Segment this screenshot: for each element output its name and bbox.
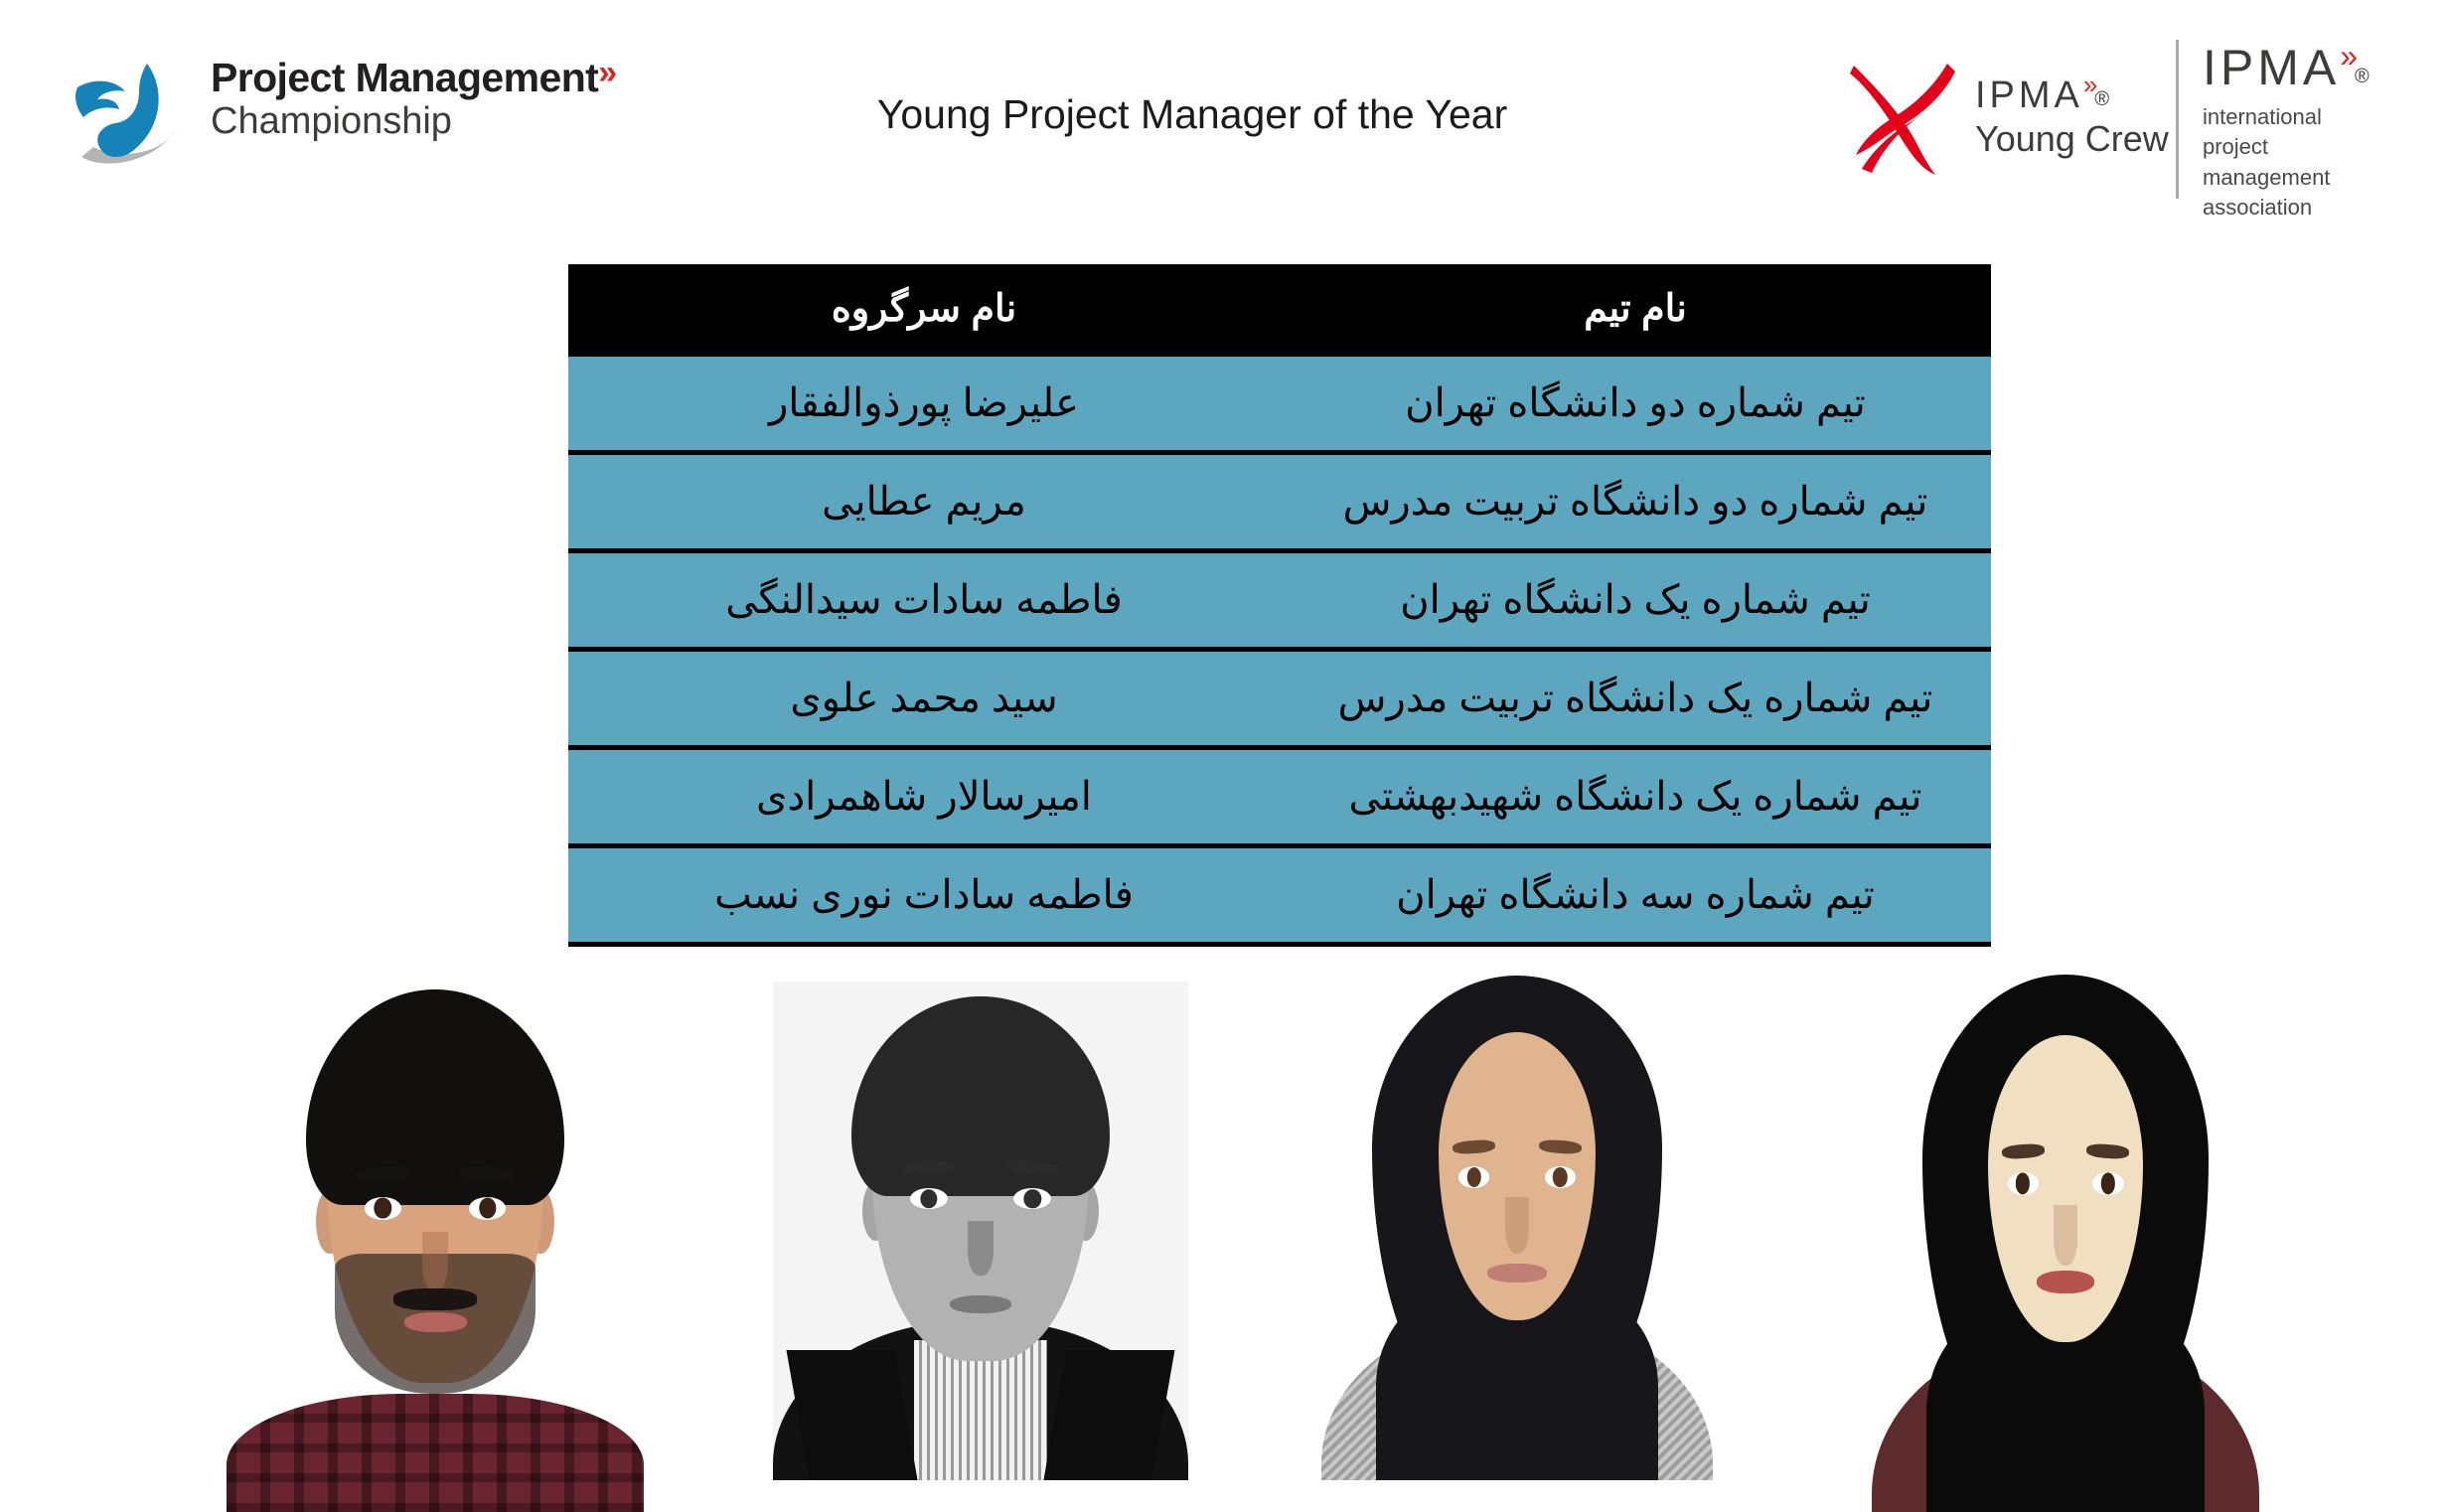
participant-photo: [1321, 966, 1713, 1480]
young-crew-registered-icon: ®: [2094, 88, 2109, 110]
cell-leader-name: مریم عطایی: [568, 453, 1280, 551]
table-head: نام تیم نام سرگروه: [568, 264, 1991, 355]
column-header-team-name: نام تیم: [1280, 264, 1991, 355]
table-body: تیم شماره دو دانشگاه تهران علیرضا پورذوا…: [568, 355, 1991, 945]
young-crew-wordmark: IPMA»®: [1975, 72, 2169, 114]
cell-leader-name: علیرضا پورذوالفقار: [568, 355, 1280, 453]
table-header-row: نام تیم نام سرگروه: [568, 264, 1991, 355]
pmc-logo-line1: Project Management»: [211, 56, 648, 99]
ipma-wordmark-text: IPMA: [2203, 40, 2340, 95]
pmc-logo-line1-text: Project Management: [211, 55, 598, 100]
project-management-championship-logo: Project Management» Championship: [60, 52, 656, 171]
cell-leader-name: فاطمه سادات سیدالنگی: [568, 551, 1280, 650]
cell-team-name: تیم شماره دو دانشگاه تربیت مدرس: [1280, 453, 1991, 551]
young-crew-x-icon: [1848, 58, 1977, 177]
ipma-international-logo: IPMA»® international project management …: [2176, 40, 2424, 199]
teams-table: نام تیم نام سرگروه تیم شماره دو دانشگاه …: [568, 264, 1991, 947]
ipma-chevron-icon: »: [2340, 38, 2355, 74]
ipma-wordmark: IPMA»®: [2203, 40, 2424, 92]
cell-leader-name: امیرسالار شاهمرادی: [568, 748, 1280, 846]
ipma-tagline: international project management associa…: [2203, 102, 2424, 223]
cell-leader-name: سید محمد علوی: [568, 650, 1280, 748]
participant-photo: [227, 974, 644, 1512]
ipma-young-crew-logo: IPMA»® Young Crew: [1848, 48, 2186, 182]
page-title: Young Project Manager of the Year: [815, 91, 1570, 138]
participant-photo: [1872, 964, 2259, 1512]
young-crew-wordmark-text: IPMA: [1975, 75, 2083, 116]
table-row: تیم شماره دو دانشگاه تهران علیرضا پورذوا…: [568, 355, 1991, 453]
cell-team-name: تیم شماره یک دانشگاه تربیت مدرس: [1280, 650, 1991, 748]
cell-leader-name: فاطمه سادات نوری نسب: [568, 846, 1280, 945]
pmc-chevron-icon: »: [598, 54, 613, 91]
pmc-swoosh-icon: [60, 52, 189, 171]
table-row: تیم شماره یک دانشگاه شهیدبهشتی امیرسالار…: [568, 748, 1991, 846]
cell-team-name: تیم شماره یک دانشگاه تهران: [1280, 551, 1991, 650]
cell-team-name: تیم شماره یک دانشگاه شهیدبهشتی: [1280, 748, 1991, 846]
table-row: تیم شماره یک دانشگاه تربیت مدرس سید محمد…: [568, 650, 1991, 748]
column-header-leader-name: نام سرگروه: [568, 264, 1280, 355]
ipma-registered-icon: ®: [2355, 66, 2370, 87]
cell-team-name: تیم شماره دو دانشگاه تهران: [1280, 355, 1991, 453]
table-row: تیم شماره دو دانشگاه تربیت مدرس مریم عطا…: [568, 453, 1991, 551]
cell-team-name: تیم شماره سه دانشگاه تهران: [1280, 846, 1991, 945]
ipma-tagline-line1: international: [2203, 102, 2424, 132]
ipma-tagline-line3: management: [2203, 163, 2424, 193]
pmc-logo-line2: Championship: [211, 101, 648, 143]
table-row: تیم شماره یک دانشگاه تهران فاطمه سادات س…: [568, 551, 1991, 650]
ipma-tagline-line4: association: [2203, 193, 2424, 223]
participant-photo: [773, 982, 1188, 1480]
slide-header: Project Management» Championship Young P…: [0, 0, 2448, 238]
young-crew-chevron-icon: »: [2083, 70, 2094, 99]
young-crew-subtitle: Young Crew: [1975, 118, 2169, 159]
ipma-tagline-line2: project: [2203, 132, 2424, 162]
participant-photo-row: [0, 954, 2448, 1512]
table-row: تیم شماره سه دانشگاه تهران فاطمه سادات ن…: [568, 846, 1991, 945]
